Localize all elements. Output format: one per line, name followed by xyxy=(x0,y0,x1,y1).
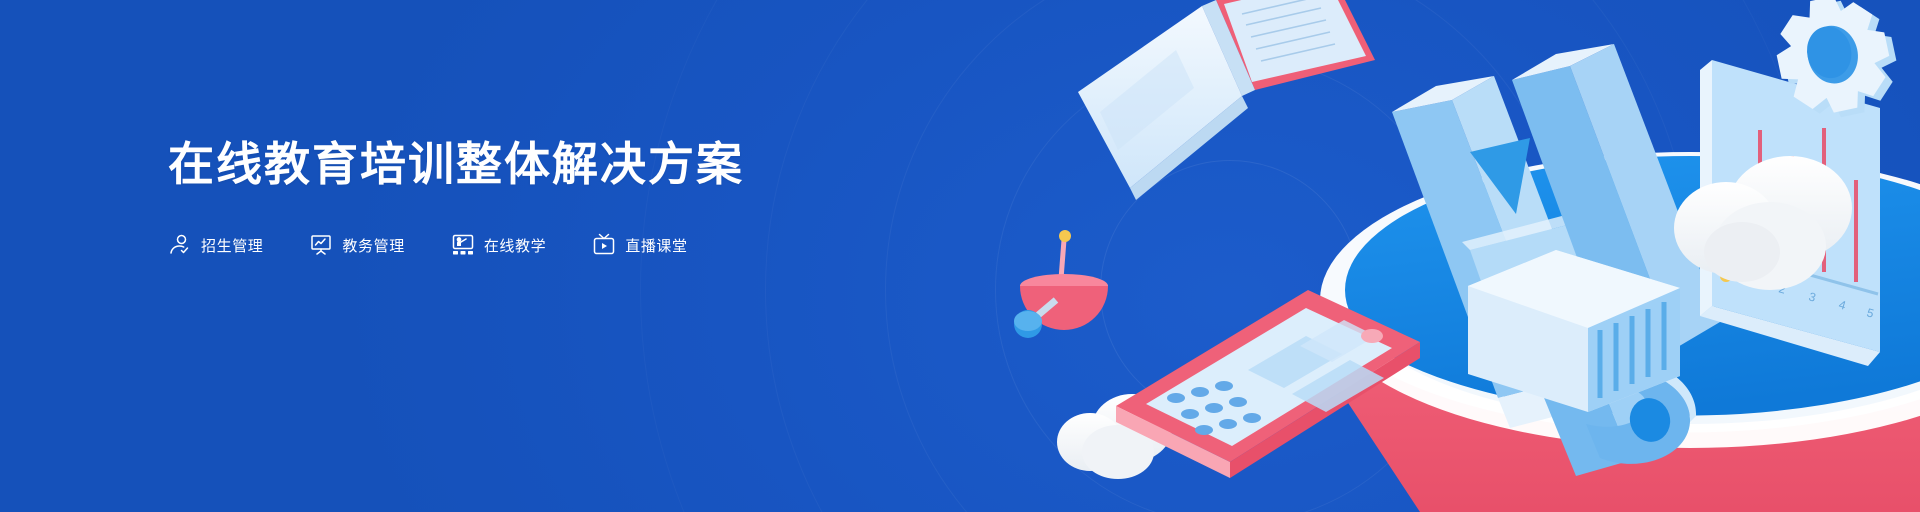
feature-label: 招生管理 xyxy=(201,235,263,256)
copy-block: 在线教育培训整体解决方案 招生管理 xyxy=(168,137,788,257)
feature-item-live-classroom[interactable]: 直播课堂 xyxy=(592,233,687,257)
feature-item-academic-affairs[interactable]: 教务管理 xyxy=(309,233,404,257)
page-title: 在线教育培训整体解决方案 xyxy=(168,137,788,191)
presentation-chart-board-icon xyxy=(309,233,333,257)
feature-item-online-teaching[interactable]: 在线教学 xyxy=(451,233,546,257)
open-book-icon xyxy=(1078,0,1375,200)
user-person-icon xyxy=(168,233,192,257)
illustration: 1 2 3 4 5 xyxy=(1000,0,1920,512)
tv-play-live-icon xyxy=(592,233,616,257)
spinning-top xyxy=(1014,230,1108,338)
feature-list: 招生管理 教务管理 xyxy=(168,233,788,257)
feature-label: 直播课堂 xyxy=(625,235,687,256)
classroom-teaching-icon xyxy=(451,233,475,257)
feature-label: 教务管理 xyxy=(342,235,404,256)
feature-label: 在线教学 xyxy=(484,235,546,256)
feature-item-enrollment[interactable]: 招生管理 xyxy=(168,233,263,257)
education-banner: 1 2 3 4 5 xyxy=(0,0,1920,512)
